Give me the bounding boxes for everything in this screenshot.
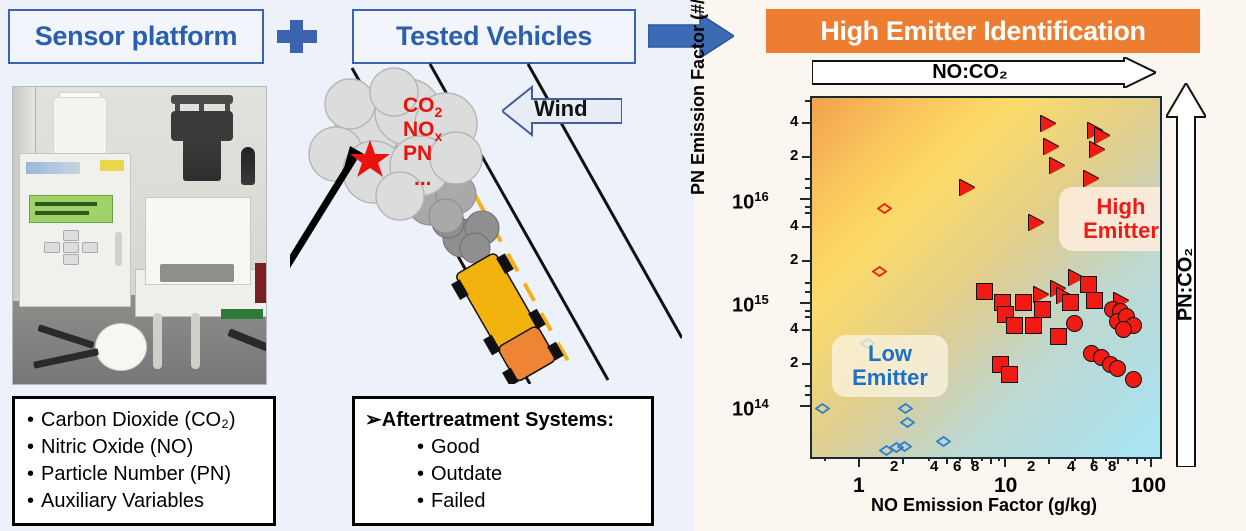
data-point-triangle (1041, 116, 1056, 132)
data-point-square (1015, 294, 1032, 311)
data-point-square (1050, 328, 1067, 345)
wind-label: Wind (534, 96, 588, 122)
measured-gases-box: •Carbon Dioxide (CO₂) •Nitric Oxide (NO)… (12, 396, 276, 526)
sensor-platform-photo (12, 86, 267, 385)
y-minor-4e14: 4 (790, 320, 798, 337)
data-point-triangle (960, 180, 975, 196)
data-point-circle (1160, 303, 1162, 320)
list-item: •Good (417, 434, 651, 461)
data-point-open-diamond-red (877, 203, 892, 213)
pn-co2-arrow-icon: PN:CO₂ (1166, 83, 1206, 467)
data-point-open-diamond-blue (898, 403, 913, 413)
data-point-open-diamond-blue (936, 436, 951, 446)
data-point-triangle (1029, 215, 1044, 231)
y-axis-title: PN Emission Factor (#/kg) (688, 0, 709, 195)
list-item: •Nitric Oxide (NO) (27, 434, 273, 461)
data-point-square (1006, 317, 1023, 334)
x-minor-6: 6 (953, 458, 961, 475)
list-item: •Auxiliary Variables (27, 488, 273, 515)
data-point-triangle (1084, 171, 1099, 187)
data-point-square (1062, 294, 1079, 311)
list-item: •Outdate (417, 461, 651, 488)
data-point-open-diamond-blue (815, 403, 830, 413)
data-point-square (1086, 292, 1103, 309)
no-co2-arrow-icon: NO:CO₂ (812, 57, 1156, 88)
data-point-square (1034, 301, 1051, 318)
list-item: •Failed (417, 488, 651, 515)
data-point-triangle (1044, 139, 1059, 155)
y-minor-4e16: 4 (790, 113, 798, 130)
y-minor-2e14: 2 (790, 354, 798, 371)
road-plume-diagram (290, 62, 682, 384)
x-axis-title: NO Emission Factor (g/kg) (810, 495, 1158, 516)
data-point-square (1025, 317, 1042, 334)
list-item: •Particle Number (PN) (27, 461, 273, 488)
x-minor-4: 4 (930, 458, 938, 475)
x-minor-20: 2 (1027, 458, 1035, 475)
data-point-circle (1066, 315, 1083, 332)
data-point-triangle (1090, 142, 1105, 158)
data-point-open-diamond-blue (897, 441, 912, 451)
data-point-open-diamond-blue (900, 417, 915, 427)
y-tick-1e16: 1016 (732, 189, 769, 215)
y-minor-2e15: 2 (790, 251, 798, 268)
list-item: •Carbon Dioxide (CO₂) (27, 407, 273, 434)
x-minor-80: 8 (1108, 458, 1116, 475)
emission-scatter-chart: NO:CO₂ PN:CO₂ PN Emission Factor (#/kg) … (694, 55, 1246, 531)
tested-vehicles-title: Tested Vehicles (352, 9, 636, 64)
x-tick-100: 100 (1131, 474, 1166, 498)
x-minor-60: 6 (1090, 458, 1098, 475)
plot-area: High Emitter Low Emitter (810, 96, 1162, 459)
y-minor-2e16: 2 (790, 147, 798, 164)
no-co2-label: NO:CO₂ (812, 61, 1128, 84)
data-point-circle (1125, 371, 1142, 388)
y-minor-4e15: 4 (790, 217, 798, 234)
x-tick-10: 10 (994, 474, 1017, 498)
graphical-abstract: Sensor platform Tested Vehicles High Emi… (0, 0, 1246, 531)
x-minor-2: 2 (890, 458, 898, 475)
pn-co2-label: PN:CO₂ (1175, 165, 1198, 405)
data-point-square (976, 283, 993, 300)
sensor-platform-title: Sensor platform (8, 9, 264, 64)
data-point-triangle (1050, 158, 1065, 174)
page-title: High Emitter Identification (766, 9, 1200, 53)
y-tick-1e15: 1015 (732, 292, 769, 318)
high-emitter-callout: High Emitter (1059, 187, 1162, 251)
data-point-circle (1109, 360, 1126, 377)
data-point-circle (1115, 321, 1132, 338)
aftertreatment-box: ➢Aftertreatment Systems: •Good •Outdate … (352, 396, 654, 526)
x-minor-8: 8 (971, 458, 979, 475)
data-point-square (1001, 366, 1018, 383)
low-emitter-callout: Low Emitter (832, 335, 948, 397)
y-tick-1e14: 1014 (732, 396, 769, 422)
plume-label-ellipsis: ... (414, 166, 432, 191)
aftertreatment-heading: ➢Aftertreatment Systems: (355, 399, 651, 432)
data-point-square (1080, 276, 1097, 293)
data-point-open-diamond-red (872, 266, 887, 276)
x-tick-1: 1 (853, 474, 865, 498)
x-minor-40: 4 (1067, 458, 1075, 475)
plus-icon (277, 20, 317, 50)
plume-label-pn: PN (403, 141, 432, 166)
